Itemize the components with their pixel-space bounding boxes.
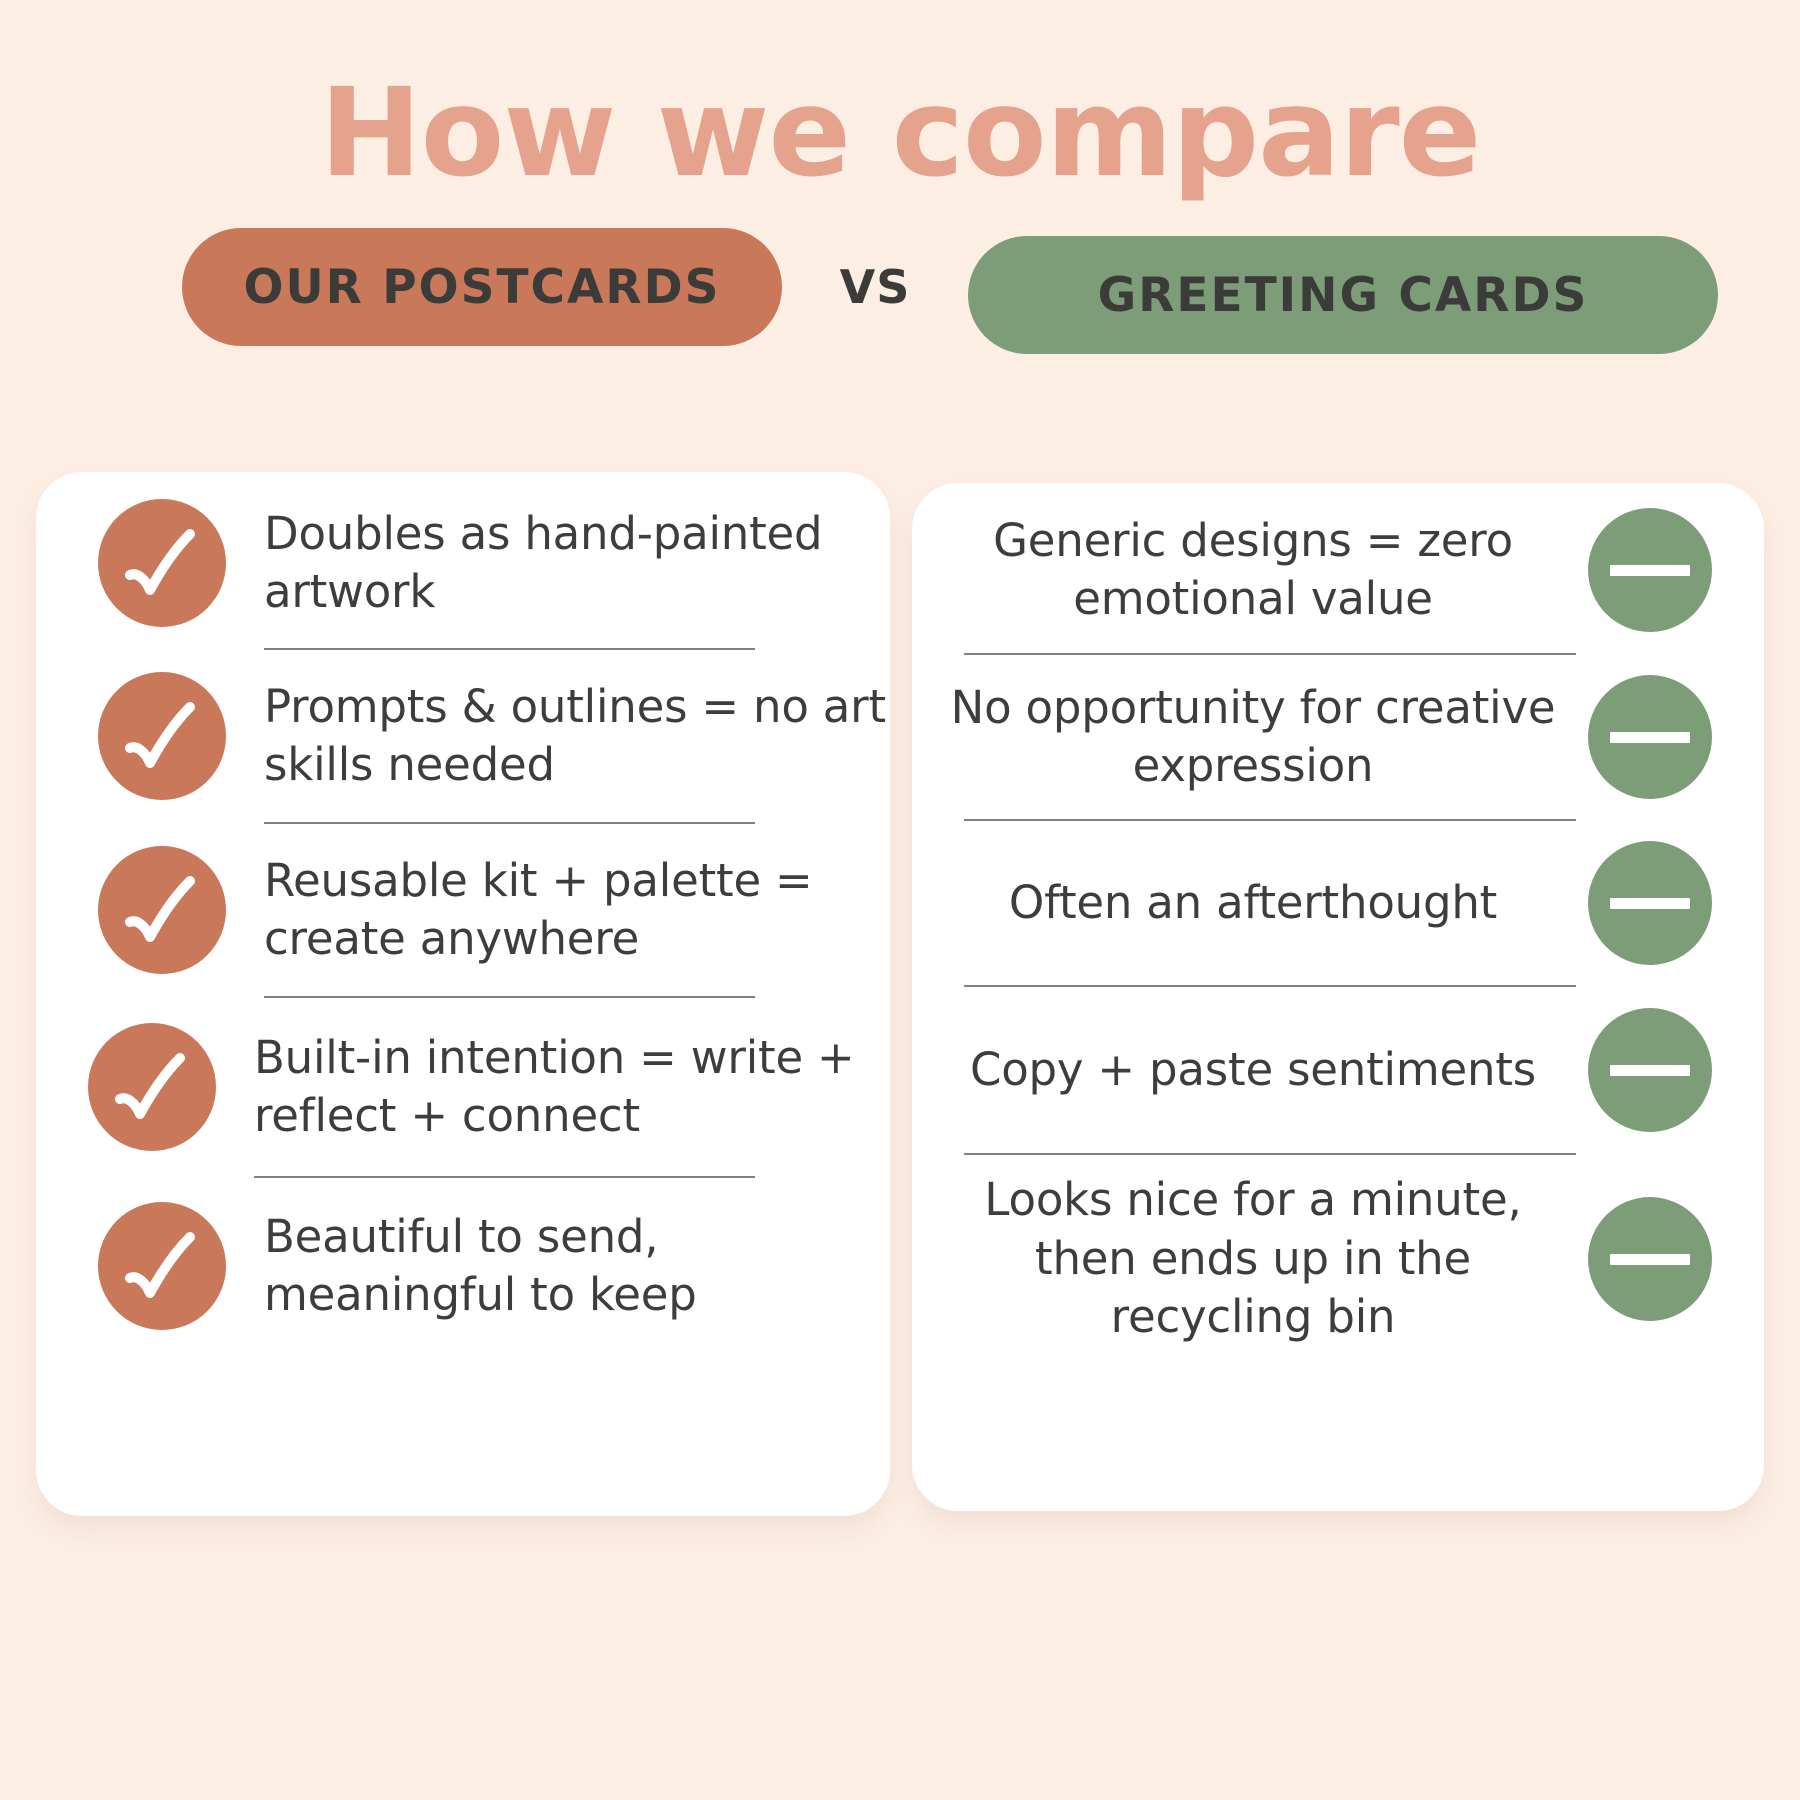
list-item: Doubles as hand-painted artwork — [36, 472, 890, 648]
list-item-label: Often an afterthought — [912, 874, 1588, 933]
check-icon — [98, 499, 226, 627]
minus-icon — [1588, 1197, 1712, 1321]
card-greeting-cards: Generic designs = zero emotional value N… — [912, 483, 1764, 1511]
list-item-label: Looks nice for a minute, then ends up in… — [912, 1171, 1588, 1347]
page-title: How we compare — [0, 72, 1800, 194]
minus-icon — [1588, 675, 1712, 799]
check-icon — [98, 846, 226, 974]
minus-icon — [1588, 508, 1712, 632]
minus-icon — [1588, 841, 1712, 965]
minus-icon — [1588, 1008, 1712, 1132]
list-item-label: Doubles as hand-painted artwork — [264, 505, 890, 622]
list-item: Reusable kit + palette = create anywhere — [36, 824, 890, 996]
list-item: Copy + paste sentiments — [912, 987, 1764, 1153]
check-icon — [88, 1023, 216, 1151]
list-item-label: No opportunity for creative expression — [912, 679, 1588, 796]
left-card-rows: Doubles as hand-painted artwork Prompts … — [36, 472, 890, 1516]
right-card-rows: Generic designs = zero emotional value N… — [912, 483, 1764, 1511]
list-item: Built-in intention = write + reflect + c… — [36, 998, 890, 1176]
list-item-label: Generic designs = zero emotional value — [912, 512, 1588, 629]
pill-our-postcards-label: OUR POSTCARDS — [244, 260, 721, 315]
vs-label: VS — [782, 228, 968, 346]
list-item-label: Reusable kit + palette = create anywhere — [264, 852, 890, 969]
list-item: Often an afterthought — [912, 821, 1764, 985]
check-icon — [98, 1202, 226, 1330]
infographic-page: How we compare OUR POSTCARDS VS GREETING… — [0, 0, 1800, 1800]
pill-greeting-cards[interactable]: GREETING CARDS — [968, 236, 1718, 354]
comparison-header: OUR POSTCARDS VS GREETING CARDS — [0, 228, 1800, 346]
list-item-label: Built-in intention = write + reflect + c… — [254, 1029, 890, 1146]
pill-greeting-cards-label: GREETING CARDS — [1098, 268, 1589, 323]
card-our-postcards: Doubles as hand-painted artwork Prompts … — [36, 472, 890, 1516]
list-item: No opportunity for creative expression — [912, 655, 1764, 819]
list-item: Looks nice for a minute, then ends up in… — [912, 1155, 1764, 1363]
list-item: Beautiful to send, meaningful to keep — [36, 1178, 890, 1354]
list-item: Generic designs = zero emotional value — [912, 483, 1764, 653]
list-item-label: Prompts & outlines = no art skills neede… — [264, 678, 890, 795]
list-item: Prompts & outlines = no art skills neede… — [36, 650, 890, 822]
list-item-label: Beautiful to send, meaningful to keep — [264, 1208, 890, 1325]
pill-our-postcards[interactable]: OUR POSTCARDS — [182, 228, 782, 346]
list-item-label: Copy + paste sentiments — [912, 1041, 1588, 1100]
check-icon — [98, 672, 226, 800]
